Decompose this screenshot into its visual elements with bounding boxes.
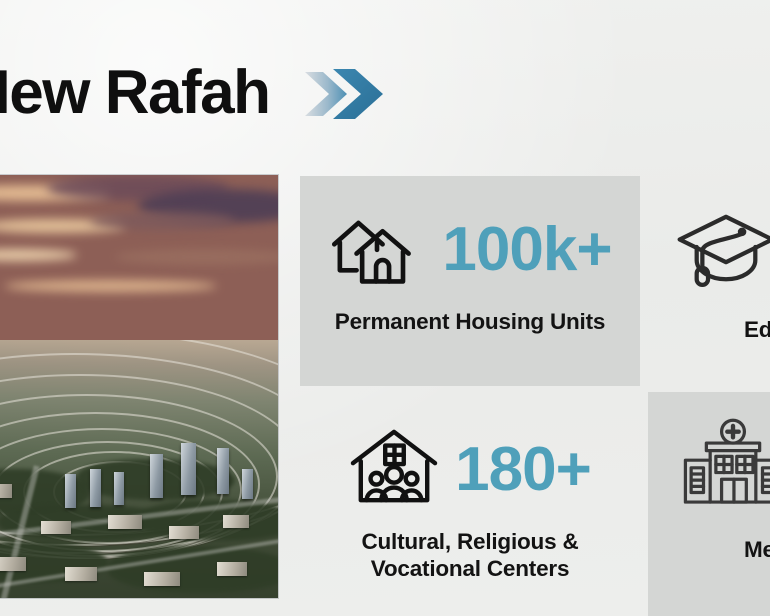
stat-label-educational: Edu: [744, 316, 770, 343]
stat-card-housing: 100k+ Permanent Housing Units: [300, 176, 640, 386]
stat-card-top: 180+: [349, 422, 591, 518]
two-houses-icon: [328, 209, 426, 292]
community-center-icon: [349, 426, 439, 515]
stat-card-culture: 180+ Cultural, Religious & Vocational Ce…: [300, 394, 640, 616]
page-title: New Rafah: [0, 62, 269, 124]
stat-card-educational: Edu: [648, 176, 770, 386]
hospital-building-icon: [674, 418, 770, 515]
stat-card-top: [674, 418, 770, 514]
stat-label-medical: Med: [744, 536, 770, 563]
stat-card-top: [674, 202, 770, 298]
graduation-cap-icon: [674, 207, 770, 294]
stat-card-top: 100k+: [328, 202, 611, 298]
double-chevron-right-icon: [303, 64, 395, 124]
stat-label-housing: Permanent Housing Units: [335, 308, 605, 335]
city-aerial-photo: [0, 175, 278, 598]
stat-card-medical: Med: [648, 392, 770, 616]
stat-value-culture: 180+: [455, 439, 591, 501]
stat-label-culture: Cultural, Religious & Vocational Centers: [361, 528, 578, 583]
stat-value-housing: 100k+: [442, 219, 611, 281]
slide-header: New Rafah: [0, 44, 420, 142]
photo-city-ground: [0, 340, 278, 598]
photo-sunset-sky: [0, 175, 278, 344]
